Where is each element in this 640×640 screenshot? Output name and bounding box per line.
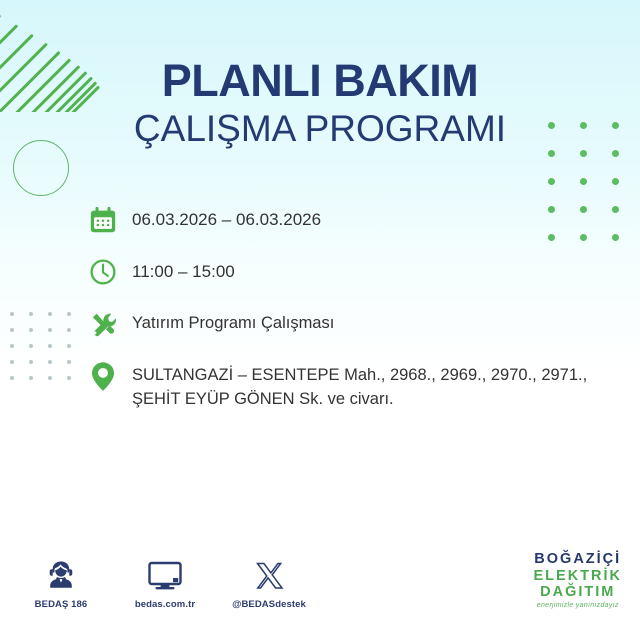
info-row-time-text: 11:00 – 15:00 — [132, 255, 235, 285]
footer-item-website-label: bedas.com.tr — [135, 599, 195, 610]
decorative-dot — [10, 360, 14, 364]
calendar-icon — [86, 203, 120, 237]
title-main: PLANLI BAKIM — [0, 58, 640, 103]
decorative-dot — [10, 328, 14, 332]
info-list: 06.03.2026 – 06.03.2026 11:00 – 15:00 — [86, 203, 626, 430]
decorative-dot — [29, 328, 33, 332]
decorative-dot — [67, 344, 71, 348]
logo-line-elektrik: ELEKTRİK — [534, 568, 623, 584]
footer-item-call-center-label: BEDAŞ 186 — [35, 599, 88, 610]
decorative-dot — [612, 150, 619, 157]
decorative-dot — [29, 344, 33, 348]
decorative-dot — [10, 344, 14, 348]
info-row-time: 11:00 – 15:00 — [86, 255, 626, 289]
decorative-dot — [548, 150, 555, 157]
monitor-icon — [147, 554, 183, 592]
decorative-dot — [67, 312, 71, 316]
info-row-worktype-text: Yatırım Programı Çalışması — [132, 307, 334, 336]
decorative-dot — [29, 312, 33, 316]
footer-item-twitter-label: @BEDASdestek — [232, 599, 306, 610]
decorative-dot — [48, 376, 52, 380]
info-row-location-text: SULTANGAZİ – ESENTEPE Mah., 2968., 2969.… — [132, 359, 626, 412]
poster-canvas: PLANLI BAKIM ÇALIŞMA PROGRAMI 06.03.2026… — [0, 0, 640, 640]
page-title: PLANLI BAKIM ÇALIŞMA PROGRAMI — [0, 58, 640, 149]
logo-line-dagitim: DAĞITIM — [534, 584, 623, 600]
clock-icon — [86, 255, 120, 289]
decorative-dot — [67, 328, 71, 332]
decorative-dot — [48, 360, 52, 364]
title-sub: ÇALIŞMA PROGRAMI — [0, 110, 640, 149]
decorative-dot — [580, 178, 587, 185]
decorative-dot — [29, 360, 33, 364]
decorative-dot — [29, 376, 33, 380]
info-row-location: SULTANGAZİ – ESENTEPE Mah., 2968., 2969.… — [86, 359, 626, 412]
bedas-logo: BOĞAZİÇİ ELEKTRİK DAĞITIM enerjimizle ya… — [534, 551, 623, 610]
info-row-worktype: Yatırım Programı Çalışması — [86, 307, 626, 341]
info-row-date-text: 06.03.2026 – 06.03.2026 — [132, 203, 321, 233]
decorative-dot — [580, 150, 587, 157]
decorative-dot — [67, 376, 71, 380]
location-pin-icon — [86, 359, 120, 393]
footer-contact-list: BEDAŞ 186 bedas.com.tr — [20, 554, 310, 610]
footer-item-call-center[interactable]: BEDAŞ 186 — [20, 554, 102, 610]
decorative-dot — [48, 344, 52, 348]
decorative-dot — [48, 312, 52, 316]
logo-tagline: enerjimizle yanınızdayız — [534, 602, 623, 610]
logo-line-bogazici: BOĞAZİÇİ — [534, 551, 623, 567]
decorative-dot — [612, 178, 619, 185]
decorative-dot — [10, 376, 14, 380]
decorative-dot — [10, 312, 14, 316]
support-agent-icon — [44, 554, 78, 592]
footer-item-website[interactable]: bedas.com.tr — [124, 554, 206, 610]
info-row-date: 06.03.2026 – 06.03.2026 — [86, 203, 626, 237]
x-twitter-icon — [253, 554, 285, 592]
decorative-dot — [48, 328, 52, 332]
dot-grid-left-decoration — [10, 312, 86, 392]
decorative-dot — [67, 360, 71, 364]
tools-icon — [86, 307, 120, 341]
footer: BEDAŞ 186 bedas.com.tr — [0, 554, 640, 626]
decorative-dot — [548, 178, 555, 185]
footer-item-twitter[interactable]: @BEDASdestek — [228, 554, 310, 610]
